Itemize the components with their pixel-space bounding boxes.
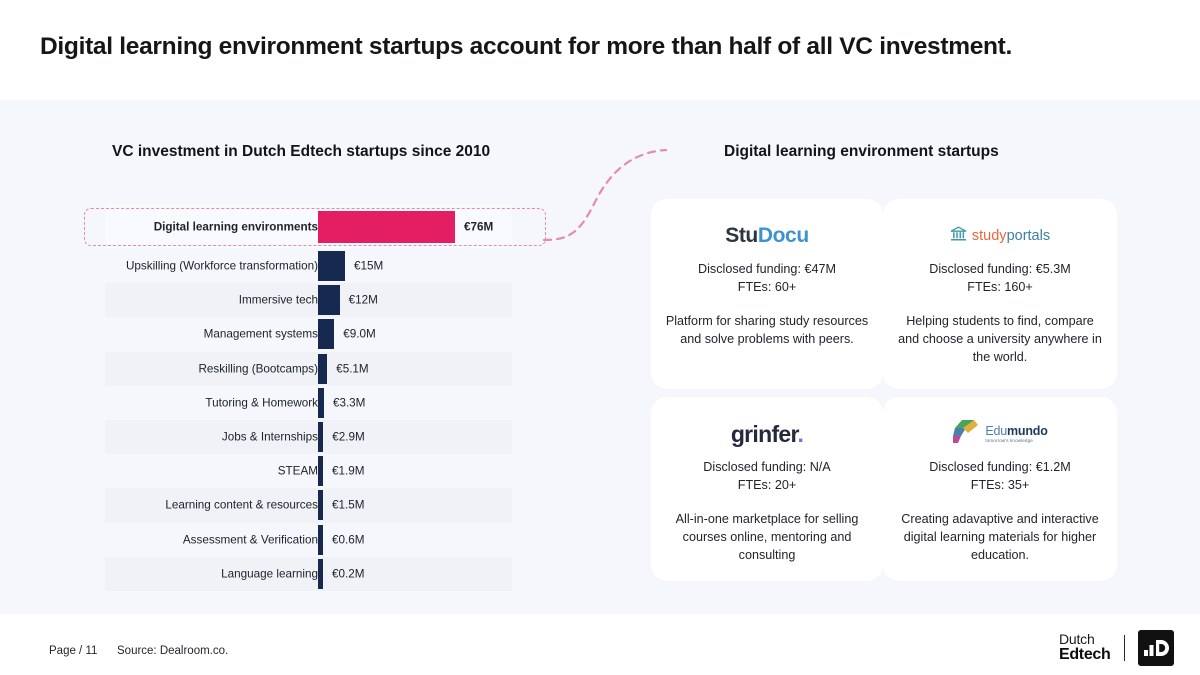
chart-value-label: €0.6M: [332, 533, 364, 546]
bank-icon: [950, 226, 967, 246]
grinfer-logo-text-a: grinfer: [731, 421, 798, 447]
card-description: Creating adavaptive and interactive digi…: [883, 511, 1117, 565]
studocu-logo-text-b: Docu: [758, 224, 809, 247]
chart-row: Management systems€9.0M: [80, 317, 550, 351]
chart-value-label: €76M: [464, 221, 493, 234]
chart-bar: [318, 388, 324, 418]
chart-bar: [318, 354, 327, 384]
chart-value-label: €1.9M: [332, 465, 364, 478]
chart-bar: [318, 490, 323, 520]
source-note: Source: Dealroom.co.: [117, 645, 228, 657]
ftes-line: FTEs: 160+: [883, 279, 1117, 297]
chart-bar: [318, 559, 323, 589]
edumundo-chevron-icon: [952, 417, 982, 452]
card-description: Helping students to find, compare and ch…: [883, 313, 1117, 367]
studocu-logo: StuDocu: [651, 213, 883, 259]
chart-row-highlighted: Digital learning environments€76M: [80, 205, 550, 249]
chart-bar: [318, 422, 323, 452]
chart-category-label: Management systems: [204, 328, 318, 341]
chart-bar: [318, 525, 323, 555]
chart-category-label: Jobs & Internships: [222, 431, 318, 444]
studyportals-logo-text-b: portals: [1007, 228, 1051, 244]
chart-category-label: STEAM: [278, 465, 318, 478]
card-description: Platform for sharing study resources and…: [651, 313, 883, 349]
chart-value-label: €15M: [354, 260, 383, 273]
chart-bar: [318, 251, 345, 281]
dutch-edtech-brand: Dutch Edtech: [1059, 630, 1174, 666]
chart-bar: [318, 319, 334, 349]
funding-line: Disclosed funding: €47M: [651, 261, 883, 279]
chart-value-label: €1.5M: [332, 499, 364, 512]
brand-wordmark: Dutch Edtech: [1059, 632, 1111, 663]
chart-category-label: Reskilling (Bootcamps): [198, 362, 318, 375]
chart-row: Learning content & resources€1.5M: [80, 488, 550, 522]
chart-row: Assessment & Verification€0.6M: [80, 523, 550, 557]
studocu-logo-text-a: Stu: [725, 224, 758, 247]
brand-logo-mark-icon: [1138, 630, 1174, 666]
chart-bar: [318, 456, 323, 486]
brand-divider: [1124, 635, 1126, 661]
chart-row: Upskilling (Workforce transformation)€15…: [80, 249, 550, 283]
card-description: All-in-one marketplace for selling cours…: [651, 511, 883, 565]
chart-row: Jobs & Internships€2.9M: [80, 420, 550, 454]
ftes-line: FTEs: 35+: [883, 477, 1117, 495]
startup-card-studyportals[interactable]: studyportals Disclosed funding: €5.3M FT…: [883, 199, 1117, 389]
chart-bar: [318, 211, 455, 243]
edumundo-logo-text-a: Edu: [985, 424, 1007, 438]
grinfer-logo-dot: .: [797, 421, 803, 447]
startup-card-grinfer[interactable]: grinfer. Disclosed funding: N/A FTEs: 20…: [651, 397, 883, 581]
brand-line-1: Dutch: [1059, 632, 1111, 647]
chart-category-label: Tutoring & Homework: [205, 396, 318, 409]
chart-category-label: Language learning: [221, 567, 318, 580]
page-title: Digital learning environment startups ac…: [40, 33, 1012, 61]
chart-row: Language learning€0.2M: [80, 557, 550, 591]
startup-card-studocu[interactable]: StuDocu Disclosed funding: €47M FTEs: 60…: [651, 199, 883, 389]
chart-bar: [318, 285, 340, 315]
chart-value-label: €2.9M: [332, 431, 364, 444]
cards-section-title: Digital learning environment startups: [724, 143, 999, 161]
studyportals-logo: studyportals: [883, 213, 1117, 259]
chart-value-label: €5.1M: [336, 362, 368, 375]
ftes-line: FTEs: 60+: [651, 279, 883, 297]
chart-value-label: €0.2M: [332, 567, 364, 580]
chart-category-label: Assessment & Verification: [183, 533, 318, 546]
chart-category-label: Learning content & resources: [165, 499, 318, 512]
chart-category-label: Digital learning environments: [154, 221, 318, 234]
funding-line: Disclosed funding: €5.3M: [883, 261, 1117, 279]
chart-value-label: €9.0M: [343, 328, 375, 341]
chart-category-label: Upskilling (Workforce transformation): [126, 260, 318, 273]
chart-row: Reskilling (Bootcamps)€5.1M: [80, 352, 550, 386]
funding-line: Disclosed funding: €1.2M: [883, 459, 1117, 477]
ftes-line: FTEs: 20+: [651, 477, 883, 495]
funding-line: Disclosed funding: N/A: [651, 459, 883, 477]
chart-value-label: €12M: [349, 294, 378, 307]
edumundo-logo-tagline: tomorrow's knowledge: [985, 439, 1047, 444]
card-funding-block: Disclosed funding: N/A FTEs: 20+: [651, 459, 883, 495]
edumundo-logo: Edumundo tomorrow's knowledge: [883, 411, 1117, 457]
card-funding-block: Disclosed funding: €47M FTEs: 60+: [651, 261, 883, 297]
chart-category-label: Immersive tech: [239, 294, 318, 307]
card-funding-block: Disclosed funding: €1.2M FTEs: 35+: [883, 459, 1117, 495]
chart-row: Immersive tech€12M: [80, 283, 550, 317]
startup-card-edumundo[interactable]: Edumundo tomorrow's knowledge Disclosed …: [883, 397, 1117, 581]
brand-line-2: Edtech: [1059, 647, 1111, 664]
vc-investment-bar-chart: Digital learning environments€76MUpskill…: [80, 205, 550, 583]
chart-title: VC investment in Dutch Edtech startups s…: [112, 143, 490, 161]
page-number: Page / 11: [49, 645, 97, 657]
chart-row: Tutoring & Homework€3.3M: [80, 386, 550, 420]
studyportals-logo-text-a: study: [972, 228, 1007, 244]
edumundo-logo-text-b: mundo: [1007, 424, 1048, 438]
chart-row: STEAM€1.9M: [80, 454, 550, 488]
chart-value-label: €3.3M: [333, 396, 365, 409]
card-funding-block: Disclosed funding: €5.3M FTEs: 160+: [883, 261, 1117, 297]
grinfer-logo: grinfer.: [651, 411, 883, 457]
